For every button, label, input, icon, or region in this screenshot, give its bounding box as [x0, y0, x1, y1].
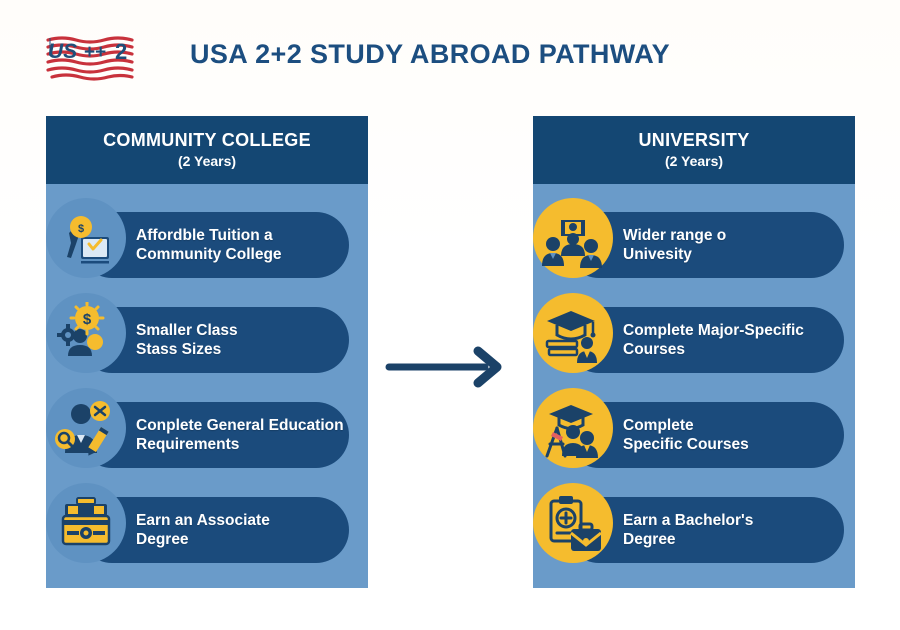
list-item[interactable]: Conplete General Education Requirements	[46, 388, 368, 483]
list-item[interactable]: $ Affordble Tuition a Community College	[46, 198, 368, 293]
toolbox-briefcase-icon	[46, 483, 126, 563]
svg-text:2: 2	[115, 39, 127, 64]
column-community-college: COMMUNITY COLLEGE (2 Years)	[46, 116, 368, 588]
item-label: Conplete General Education Requirements	[136, 416, 344, 456]
page-title: USA 2+2 STUDY ABROAD PATHWAY	[190, 39, 670, 70]
us-flag-logo-icon: US ++ 2	[42, 32, 150, 84]
item-label-line2: Degree	[623, 531, 753, 551]
item-label-line1: Earn a Bachelor's	[623, 511, 753, 531]
item-label: Complete Major-Specific Courses	[623, 321, 804, 361]
list-item[interactable]: Earn a Bachelor's Degree	[533, 483, 855, 578]
item-label: Wider range o Univesity	[623, 226, 726, 266]
list-item[interactable]: Earn an Associate Degree	[46, 483, 368, 578]
item-label-line1: Earn an Associate	[136, 511, 270, 531]
person-tuition-document-icon: $	[46, 198, 126, 278]
list-item[interactable]: $ Smaller Class Stass Sizes	[46, 293, 368, 388]
column-title: COMMUNITY COLLEGE	[103, 131, 311, 151]
graduate-lecture-icon	[533, 388, 613, 468]
column-header-university: UNIVERSITY (2 Years)	[533, 116, 855, 184]
column-items-community-college: $ Affordble Tuition a Community College	[46, 184, 368, 578]
item-label-line1: Affordble Tuition a	[136, 226, 282, 246]
student-pencil-checklist-icon	[46, 388, 126, 468]
gear-student-idea-icon: $	[46, 293, 126, 373]
item-label-line2: Stass Sizes	[136, 341, 238, 361]
item-label-line2: Univesity	[623, 246, 726, 266]
item-label: Complete Specific Courses	[623, 416, 749, 456]
graduation-cap-books-icon	[533, 293, 613, 373]
list-item[interactable]: Complete Specific Courses	[533, 388, 855, 483]
svg-text:$: $	[83, 311, 92, 328]
list-item[interactable]: Wider range o Univesity	[533, 198, 855, 293]
clipboard-briefcase-icon	[533, 483, 613, 563]
item-label-line2: Degree	[136, 531, 270, 551]
item-label: Earn an Associate Degree	[136, 511, 270, 551]
item-label-line2: Courses	[623, 341, 804, 361]
column-university: UNIVERSITY (2 Years)	[533, 116, 855, 588]
item-label: Affordble Tuition a Community College	[136, 226, 282, 266]
item-label-line1: Conplete General Education	[136, 416, 344, 436]
flow-arrow-icon	[385, 345, 510, 390]
column-title: UNIVERSITY	[638, 131, 749, 151]
column-subtitle: (2 Years)	[665, 153, 723, 169]
item-label-line1: Complete Major-Specific	[623, 321, 804, 341]
item-label: Smaller Class Stass Sizes	[136, 321, 238, 361]
item-label: Earn a Bachelor's Degree	[623, 511, 753, 551]
svg-text:$: $	[78, 223, 84, 235]
svg-text:US: US	[48, 40, 77, 63]
item-label-line2: Requirements	[136, 436, 344, 456]
header: US ++ 2 USA 2+2 STUDY ABROAD PATHWAY	[0, 0, 900, 100]
item-label-line1: Complete	[623, 416, 749, 436]
group-of-students-icon	[533, 198, 613, 278]
list-item[interactable]: Complete Major-Specific Courses	[533, 293, 855, 388]
column-items-university: Wider range o Univesity	[533, 184, 855, 578]
svg-text:++: ++	[84, 42, 106, 63]
column-subtitle: (2 Years)	[178, 153, 236, 169]
column-header-community-college: COMMUNITY COLLEGE (2 Years)	[46, 116, 368, 184]
item-label-line2: Specific Courses	[623, 436, 749, 456]
item-label-line2: Community College	[136, 246, 282, 266]
item-label-line1: Smaller Class	[136, 321, 238, 341]
item-label-line1: Wider range o	[623, 226, 726, 246]
infographic-canvas: US ++ 2 USA 2+2 STUDY ABROAD PATHWAY COM…	[0, 0, 900, 630]
